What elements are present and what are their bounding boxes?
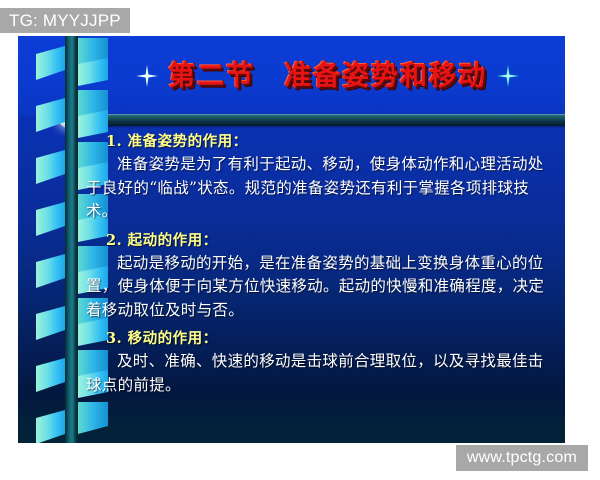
- sparkle-icon: [136, 65, 158, 87]
- sparkle-icon: [497, 65, 519, 87]
- watermark-site: www.tpctg.com: [456, 445, 588, 471]
- block-paragraph: 准备姿势是为了有利于起动、移动，使身体动作和心理活动处于良好的“临战”状态。规范…: [86, 153, 548, 224]
- watermark-tag-text: TG: MYYJJPP: [9, 11, 121, 31]
- divider-shadow: [66, 125, 565, 129]
- block-heading: 2. 起动的作用：: [86, 231, 548, 251]
- block-heading: 3. 移动的作用：: [86, 329, 548, 349]
- slide-body: 1. 准备姿势的作用： 准备姿势是为了有利于起动、移动，使身体动作和心理活动处于…: [86, 132, 548, 404]
- content-block: 3. 移动的作用： 及时、准确、快速的移动是击球前合理取位，以及寻找最佳击球点的…: [86, 329, 548, 397]
- presentation-slide: 第二节 准备姿势和移动: [18, 36, 565, 443]
- block-paragraph: 及时、准确、快速的移动是击球前合理取位，以及寻找最佳击球点的前提。: [86, 350, 548, 397]
- content-block: 2. 起动的作用： 起动是移动的开始，是在准备姿势的基础上变换身体重心的位置，使…: [86, 231, 548, 323]
- block-heading: 1. 准备姿势的作用：: [86, 132, 548, 152]
- watermark-site-text: www.tpctg.com: [467, 449, 577, 467]
- content-block: 1. 准备姿势的作用： 准备姿势是为了有利于起动、移动，使身体动作和心理活动处于…: [86, 132, 548, 224]
- page-title: 第二节 准备姿势和移动: [168, 63, 487, 90]
- screenshot-stage: 第二节 准备姿势和移动: [0, 0, 600, 480]
- watermark-tag: TG: MYYJJPP: [0, 8, 130, 33]
- slide-title-row: 第二节 准备姿势和移动: [90, 36, 565, 116]
- block-paragraph: 起动是移动的开始，是在准备姿势的基础上变换身体重心的位置，使身体便于向某方位快速…: [86, 252, 548, 323]
